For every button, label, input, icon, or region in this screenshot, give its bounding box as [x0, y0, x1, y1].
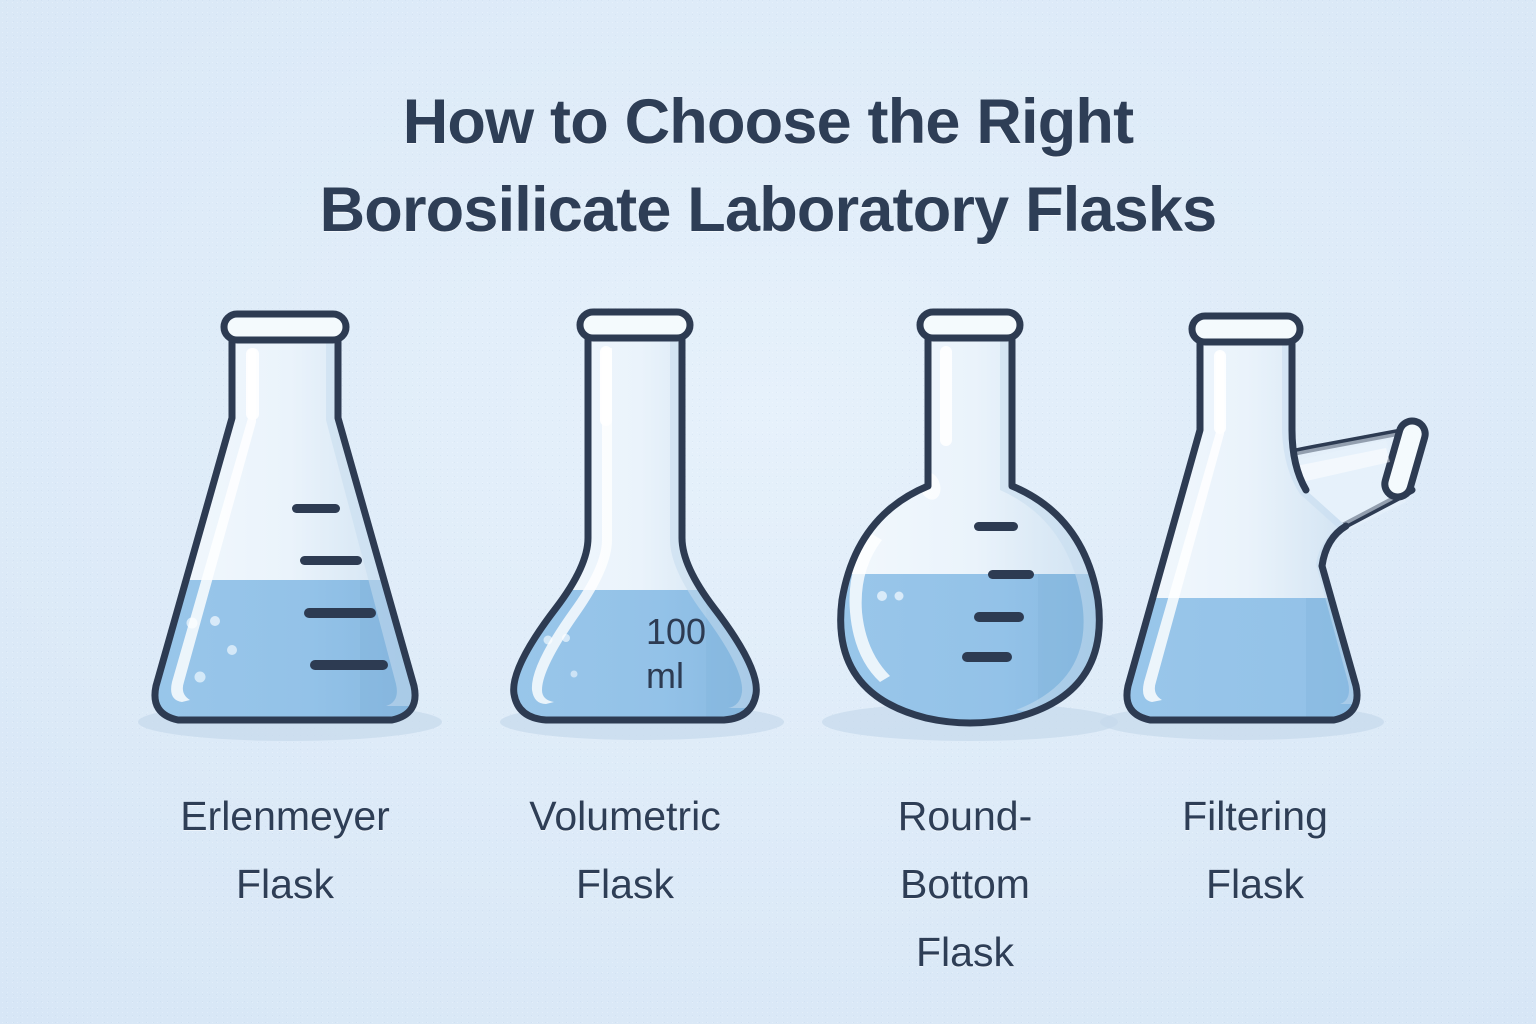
flask-filtering [1090, 290, 1480, 760]
flask-volumetric: 100 ml [470, 290, 800, 760]
volume-label-unit: ml [646, 655, 684, 696]
flask-rim [920, 312, 1020, 338]
flask-illustration-row: 100 ml [0, 290, 1536, 760]
flask-erlenmeyer [120, 290, 450, 760]
infographic-poster: How to Choose the Right Borosilicate Lab… [0, 0, 1536, 1024]
volume-label-value: 100 [646, 611, 706, 652]
caption-round-bottom: Round- Bottom Flask [800, 782, 1130, 986]
flask-caption-row: Erlenmeyer Flask Volumetric Flask Round-… [0, 782, 1536, 1002]
caption-erlenmeyer: Erlenmeyer Flask [120, 782, 450, 918]
flask-rim [580, 312, 690, 338]
title-line-2: Borosilicate Laboratory Flasks [0, 166, 1536, 254]
page-title: How to Choose the Right Borosilicate Lab… [0, 78, 1536, 254]
caption-filtering: Filtering Flask [1090, 782, 1420, 918]
flask-rim [224, 314, 346, 340]
flask-rim [1192, 316, 1300, 342]
caption-volumetric: Volumetric Flask [460, 782, 790, 918]
title-line-1: How to Choose the Right [0, 78, 1536, 166]
